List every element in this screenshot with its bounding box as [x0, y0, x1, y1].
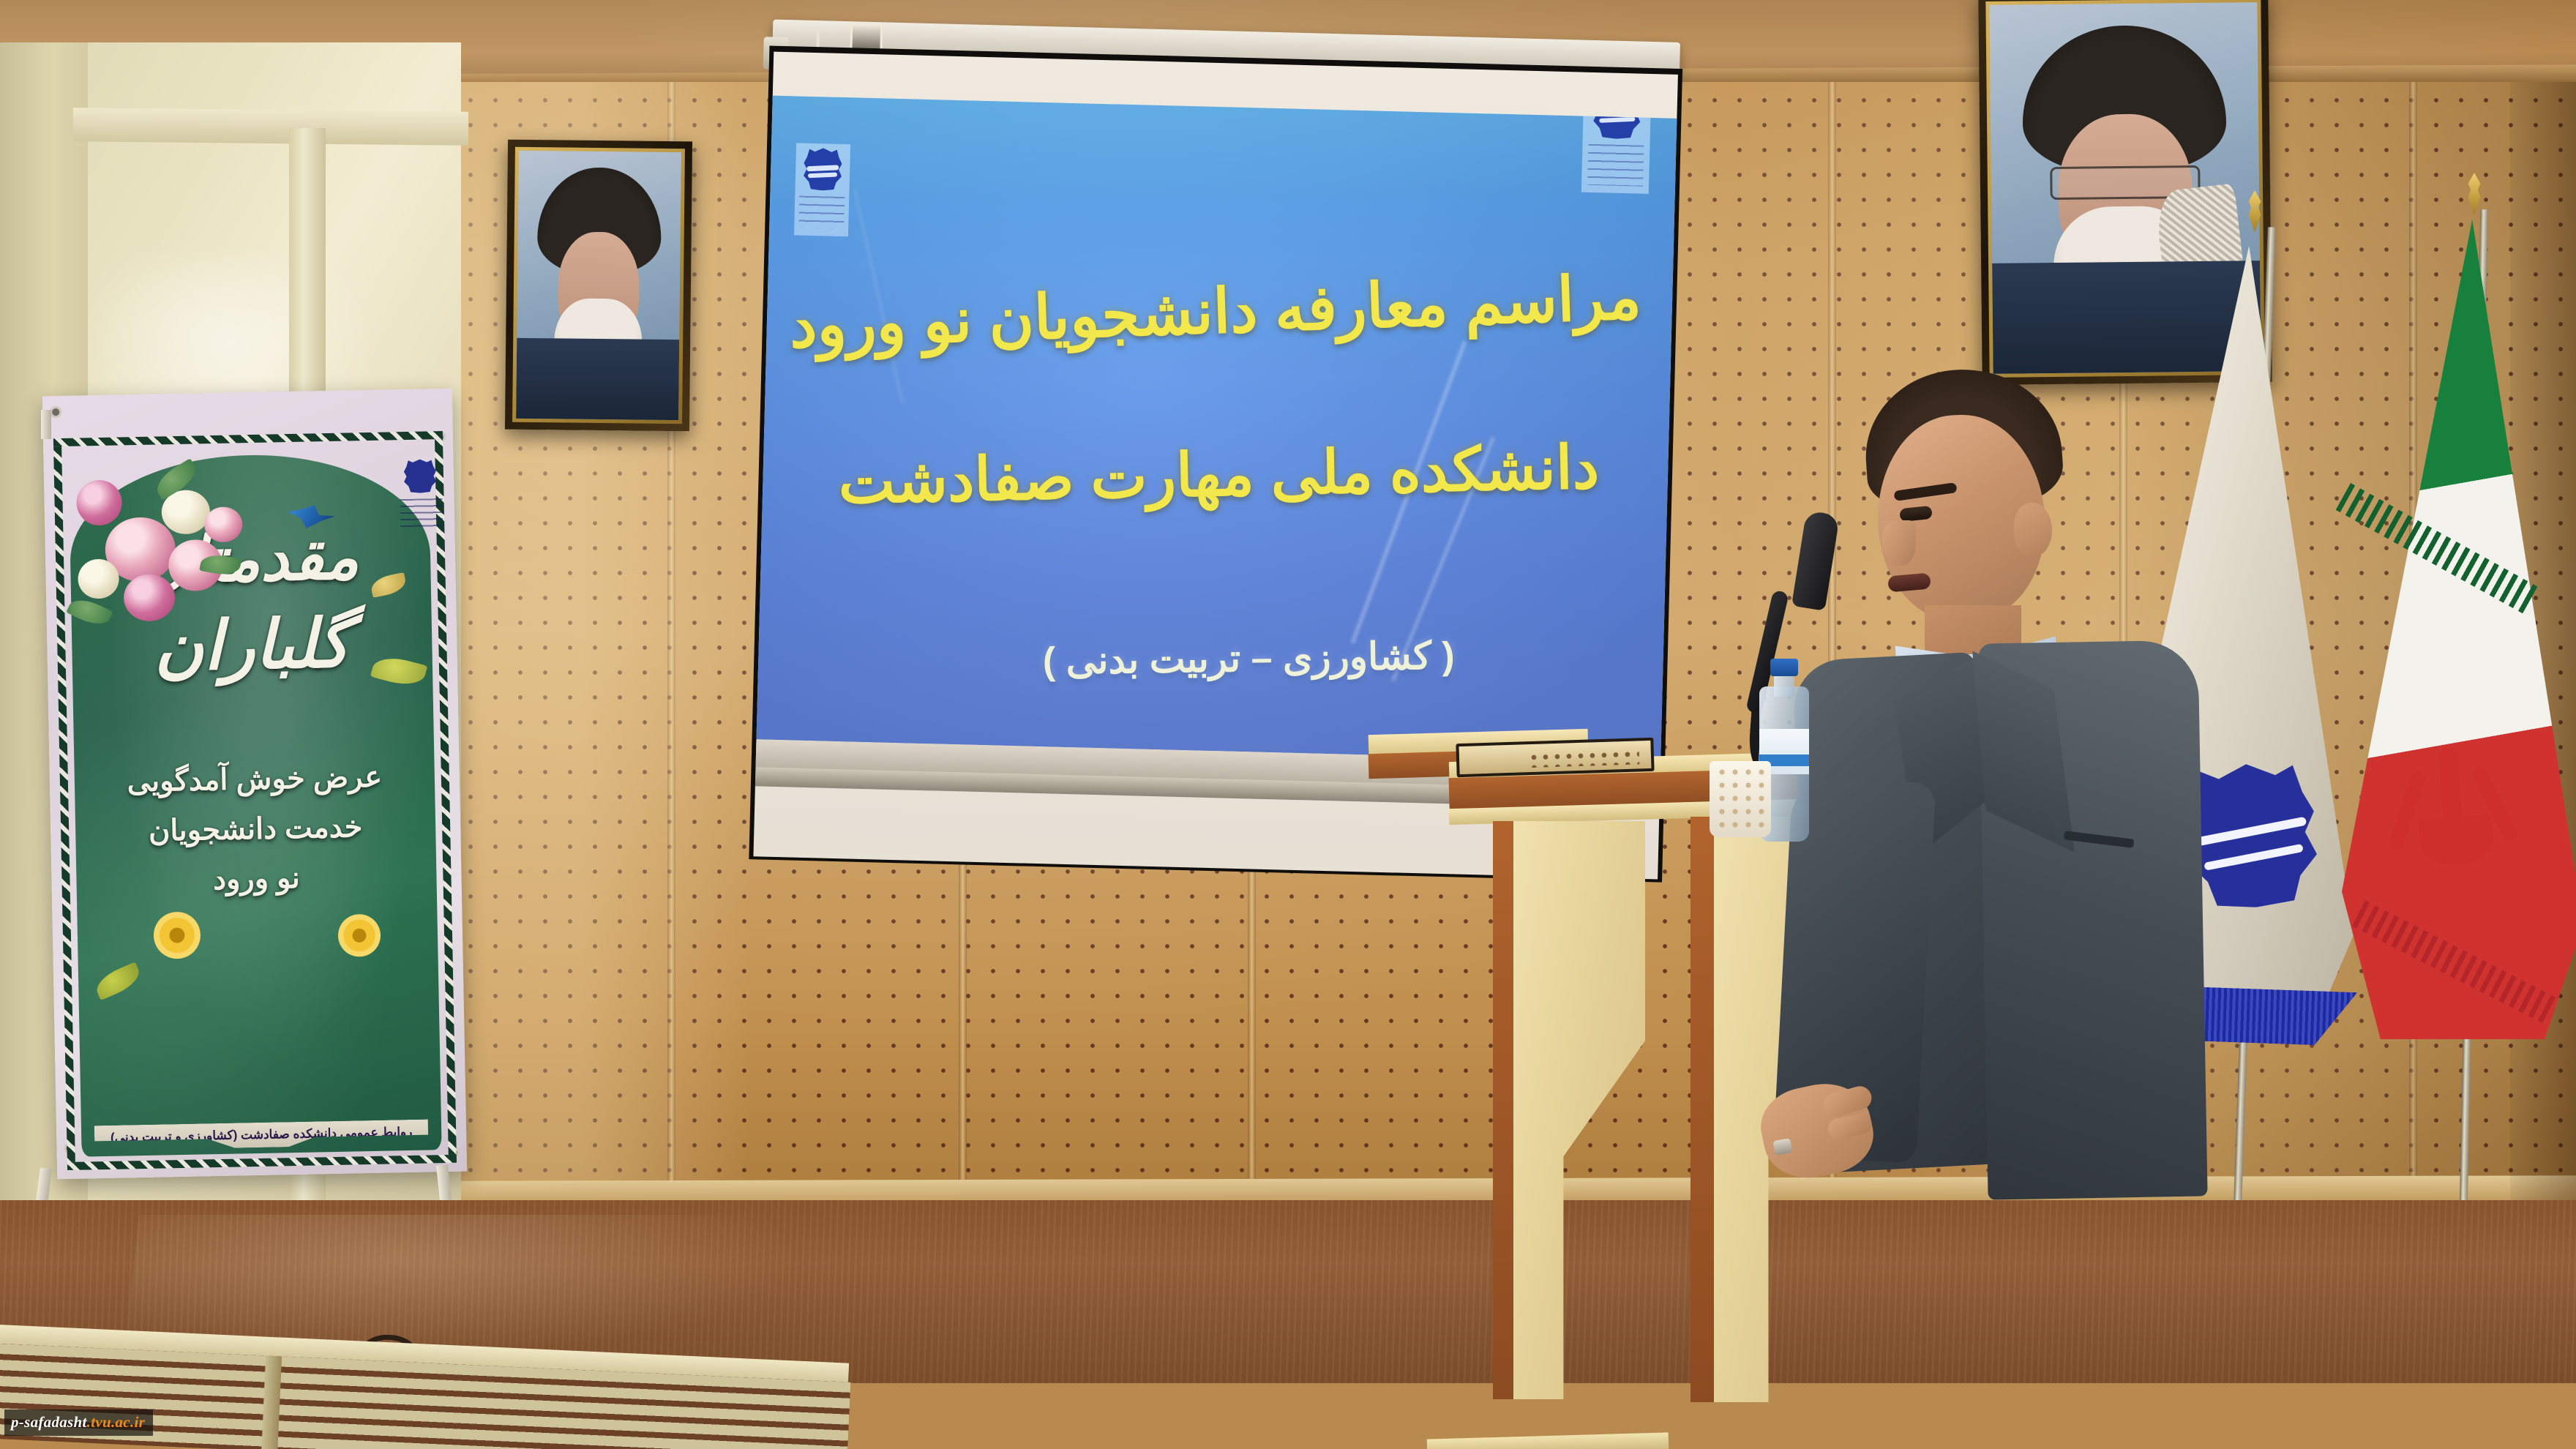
university-crest-icon: [804, 148, 842, 191]
slide-department-line: ( کشاورزی – تربیت بدنی ): [1043, 634, 1456, 683]
auditorium-photo-scene: مراسم معارفه دانشجویان نو ورود دانشکده م…: [0, 0, 2576, 1449]
banner-hanger-clip: [41, 410, 51, 439]
logo-caption-text: [1587, 144, 1644, 187]
floor-reflection: [124, 1215, 798, 1354]
flag-iran-emblem-icon: [2384, 742, 2525, 883]
banner-credit-line: روابط عمومی دانشکده صفادشت (کشاورزی و تر…: [94, 1120, 429, 1151]
portrait-ayatollah-khamenei: [1978, 0, 2272, 385]
picture-frame-outer: [505, 140, 692, 432]
leaf-illustration: [92, 962, 144, 1000]
daisy-illustration: [153, 911, 201, 959]
site-watermark: p-safadasht.tvu.ac.ir: [4, 1409, 153, 1436]
portrait-canvas: [1989, 2, 2261, 374]
bottle-cap: [1770, 659, 1798, 676]
portrait-canvas: [516, 151, 681, 420]
picture-frame-gilt: [512, 147, 685, 424]
daisy-illustration: [337, 914, 381, 957]
projected-slide: مراسم معارفه دانشجویان نو ورود دانشکده م…: [757, 96, 1677, 763]
book-on-lectern: [1456, 738, 1654, 777]
logo-caption-text: [798, 196, 845, 230]
ring-on-finger: [1772, 1138, 1792, 1156]
watermark-text-domain: .tvu.ac.ir: [87, 1413, 145, 1431]
lectern-leg: [1513, 821, 1645, 1399]
ear-shape: [2014, 503, 2052, 557]
nose-shape: [1882, 520, 1916, 566]
presenter-at-lectern: [1742, 370, 2210, 1449]
banner-line-5: نو ورود: [76, 858, 437, 899]
banner-logo-caption: [400, 498, 443, 528]
picture-frame-gilt: [1985, 0, 2264, 378]
lectern-base-trim: [1427, 1432, 1669, 1449]
paper-cup: [1710, 761, 1771, 837]
robe-shape: [1992, 261, 2261, 374]
left-wall-cap-molding: [73, 108, 468, 146]
watermark-text-primary: p-safadasht: [11, 1413, 87, 1431]
portrait-ayatollah-khomeini: [505, 140, 692, 432]
welcome-banner: مقدمتان گلباران عرض خوش آمدگویی خدمت دان…: [42, 389, 467, 1180]
banner-line-3: عرض خوش آمدگویی: [74, 759, 435, 799]
slide-logo-left: [794, 143, 850, 236]
banner-line-4: خدمت دانشجویان: [75, 809, 436, 849]
robe-shape: [516, 338, 679, 420]
picture-frame-outer: [1978, 0, 2272, 385]
